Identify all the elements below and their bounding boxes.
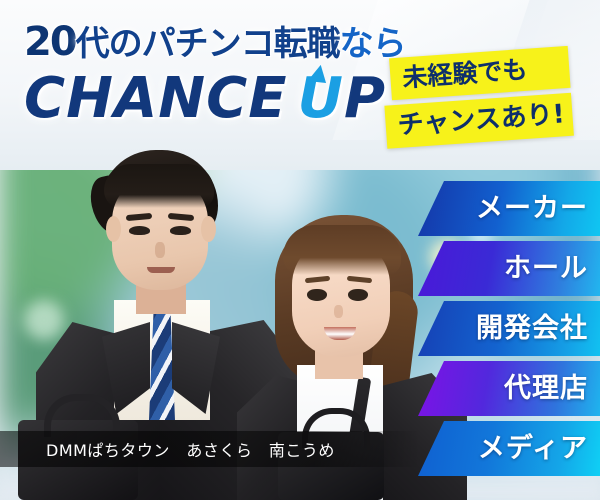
highlight-badge: 未経験でも チャンスあり! bbox=[389, 46, 574, 148]
man-ear-right bbox=[201, 216, 216, 242]
kicker-number: 20 bbox=[24, 19, 76, 65]
woman-eye-right bbox=[348, 289, 368, 301]
man-fringe bbox=[104, 164, 214, 208]
kicker-middle: 代のパチンコ転職 bbox=[76, 24, 340, 64]
man-eye-right bbox=[170, 226, 191, 235]
category-label: メディア bbox=[478, 435, 600, 462]
caption-text: DMMぱちタウン あさくら 南こうめ bbox=[0, 437, 335, 461]
logo-letter-p: P bbox=[344, 66, 386, 131]
woman-fringe bbox=[283, 225, 401, 275]
category-item-agency[interactable]: 代理店 bbox=[418, 361, 600, 416]
man-eye-left bbox=[129, 226, 150, 235]
man-mouth bbox=[147, 267, 175, 273]
man-nose bbox=[155, 242, 165, 258]
category-list: メーカー ホール 開発会社 代理店 メディア bbox=[418, 181, 600, 476]
category-label: 開発会社 bbox=[476, 315, 600, 342]
pachinko-job-ad-banner: 20代のパチンコ転職なら CHANCEUP 未経験でも チャンスあり! メーカー… bbox=[0, 0, 600, 500]
category-item-media[interactable]: メディア bbox=[418, 421, 600, 476]
caption-bar: DMMぱちタウン あさくら 南こうめ bbox=[0, 431, 420, 467]
logo-word-chance: CHANCE bbox=[24, 66, 288, 131]
woman-eye-left bbox=[307, 289, 327, 301]
man-ear-left bbox=[106, 216, 121, 242]
category-label: 代理店 bbox=[504, 375, 600, 402]
category-label: メーカー bbox=[476, 195, 600, 222]
woman-nose bbox=[334, 305, 343, 318]
logo-word-up: UP bbox=[298, 71, 387, 127]
category-item-hall[interactable]: ホール bbox=[418, 241, 600, 296]
headline-kicker: 20代のパチンコ転職なら bbox=[24, 22, 454, 62]
category-item-maker[interactable]: メーカー bbox=[418, 181, 600, 236]
category-item-development-company[interactable]: 開発会社 bbox=[418, 301, 600, 356]
category-label: ホール bbox=[504, 255, 600, 282]
